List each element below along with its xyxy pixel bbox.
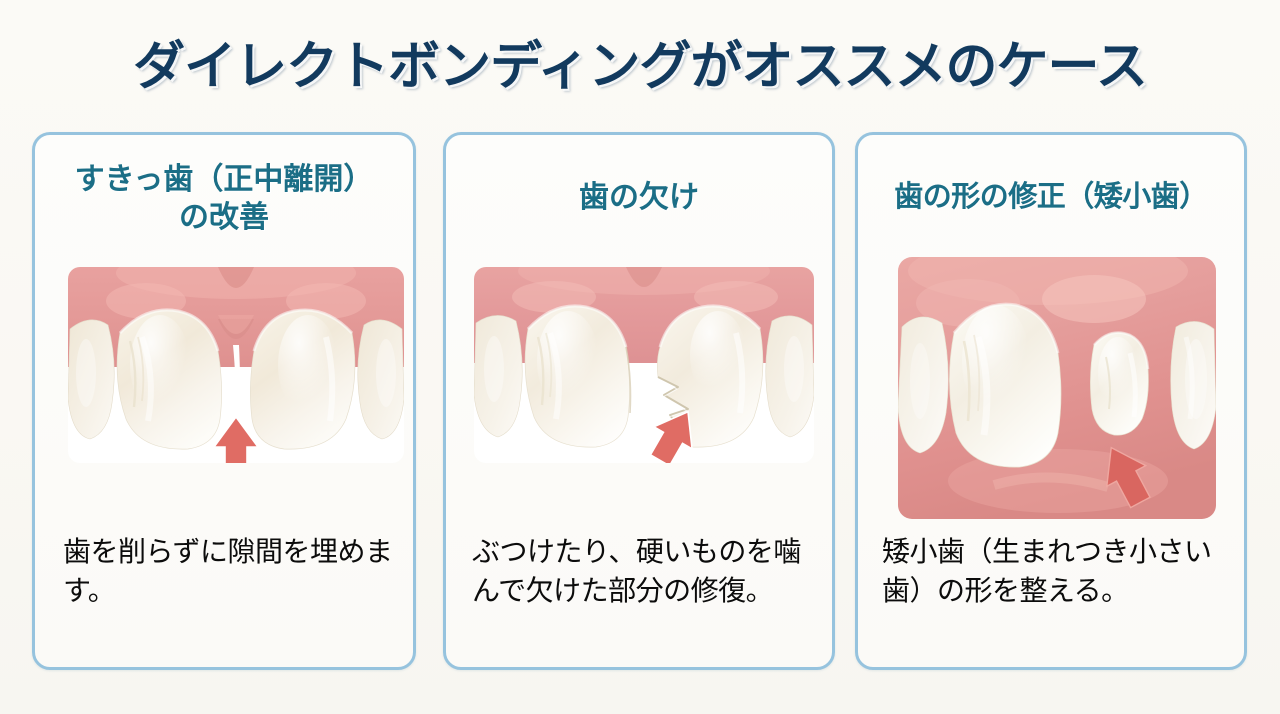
card-heading-line-1: すきっ歯（正中離開） — [35, 161, 413, 199]
teeth-microdontia-svg — [898, 257, 1216, 519]
teeth-chip-svg — [474, 267, 814, 463]
card-caption: 矮小歯（生まれつき小さい歯）の形を整える。 — [882, 533, 1234, 610]
card-heading-line-2: の改善 — [35, 199, 413, 237]
case-card-chipped-tooth: 歯の欠け — [443, 132, 835, 670]
case-card-gap-teeth: すきっ歯（正中離開） の改善 — [32, 132, 416, 670]
page-title: ダイレクトボンディングがオススメのケース — [133, 24, 1147, 99]
card-heading: 歯の欠け — [446, 179, 832, 217]
cards-container: すきっ歯（正中離開） の改善 — [0, 132, 1280, 672]
card-heading-line-1: 歯の欠け — [446, 179, 832, 217]
card-heading: 歯の形の修正（矮小歯） — [858, 179, 1244, 216]
card-caption: ぶつけたり、硬いものを噛んで欠けた部分の修復。 — [472, 533, 820, 610]
case-card-peg-shaped-tooth: 歯の形の修正（矮小歯） — [855, 132, 1247, 670]
infographic-page: ダイレクトボンディングがオススメのケース すきっ歯（正中離開） の改善 — [0, 0, 1280, 714]
title-container: ダイレクトボンディングがオススメのケース — [0, 24, 1280, 99]
teeth-with-peg-shaped-tooth-illustration — [898, 257, 1216, 519]
card-heading: すきっ歯（正中離開） の改善 — [35, 161, 413, 238]
teeth-with-chipped-incisor-illustration — [474, 267, 814, 463]
teeth-gap-svg — [68, 267, 404, 463]
card-caption: 歯を削らずに隙間を埋めます。 — [63, 533, 403, 610]
teeth-with-midline-gap-illustration — [68, 267, 404, 463]
card-heading-line-1: 歯の形の修正（矮小歯） — [858, 179, 1244, 216]
